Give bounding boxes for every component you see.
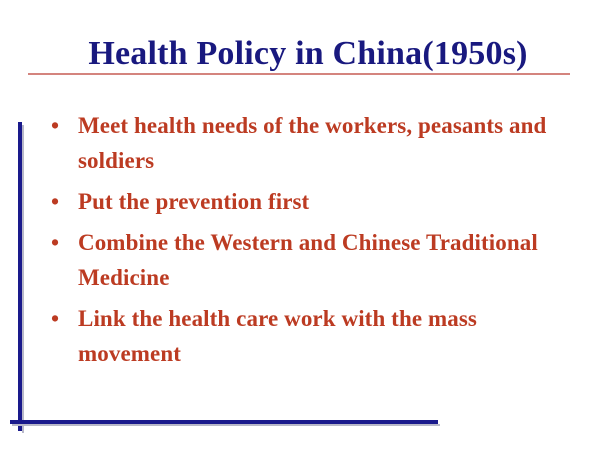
list-item-text: Meet health needs of the workers, peasan… [78, 108, 566, 178]
bullet-list: • Meet health needs of the workers, peas… [46, 108, 566, 377]
list-item-text: Link the health care work with the mass … [78, 301, 566, 371]
bullet-dot-icon: • [51, 108, 71, 143]
list-item-text: Combine the Western and Chinese Traditio… [78, 225, 566, 295]
page-title: Health Policy in China(1950s) [0, 34, 616, 74]
title-divider-rule [28, 73, 570, 75]
bullet-dot-icon: • [51, 225, 71, 260]
list-item: • Put the prevention first [46, 184, 566, 219]
list-item-text: Put the prevention first [78, 184, 566, 219]
list-item: • Link the health care work with the mas… [46, 301, 566, 371]
bullet-dot-icon: • [51, 184, 71, 219]
list-item: • Combine the Western and Chinese Tradit… [46, 225, 566, 295]
bullet-dot-icon: • [51, 301, 71, 336]
list-item: • Meet health needs of the workers, peas… [46, 108, 566, 178]
decorative-vertical-axis-shadow [22, 125, 24, 433]
presentation-slide: Health Policy in China(1950s) • Meet hea… [0, 0, 616, 462]
decorative-horizontal-axis-shadow [12, 424, 440, 426]
